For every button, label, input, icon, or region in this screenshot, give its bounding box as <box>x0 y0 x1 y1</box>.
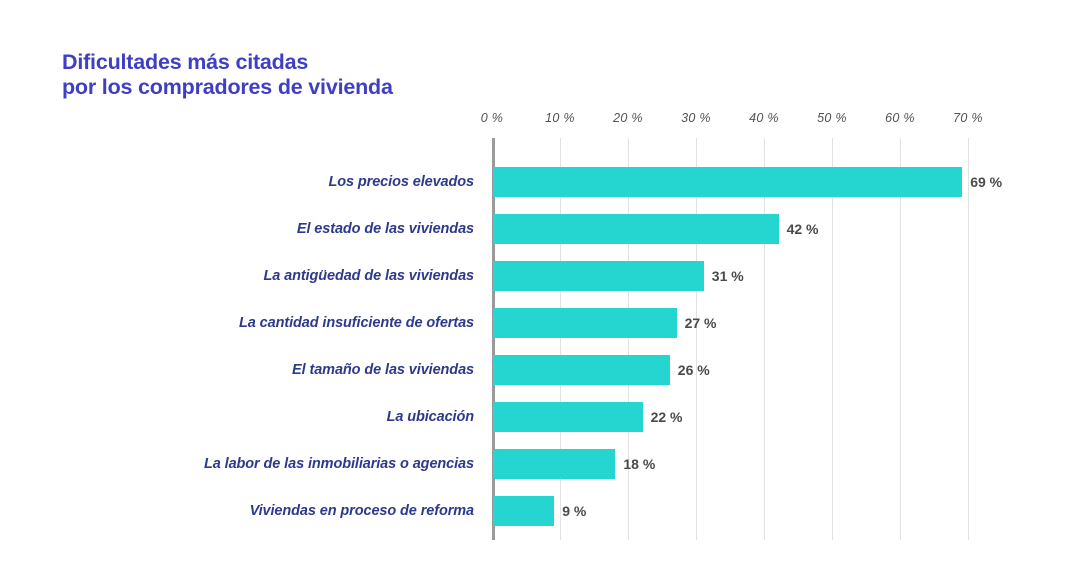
bar-row: La labor de las inmobiliarias o agencias… <box>0 449 1072 479</box>
x-tick-label-60: 60 % <box>885 111 915 125</box>
gridline-70 <box>968 138 969 540</box>
category-label: La antigüedad de las viviendas <box>0 261 474 291</box>
bar-row: El estado de las viviendas42 % <box>0 214 1072 244</box>
bar-value-label: 22 % <box>651 402 683 432</box>
gridline-40 <box>764 138 765 540</box>
bar <box>493 449 615 479</box>
x-tick-label-20: 20 % <box>613 111 643 125</box>
gridline-60 <box>900 138 901 540</box>
bar <box>493 355 670 385</box>
category-label: El tamaño de las viviendas <box>0 355 474 385</box>
bar <box>493 308 677 338</box>
x-tick-label-0: 0 % <box>481 111 503 125</box>
gridline-30 <box>696 138 697 540</box>
bar <box>493 496 554 526</box>
x-tick-label-10: 10 % <box>545 111 575 125</box>
bar-row: La ubicación22 % <box>0 402 1072 432</box>
x-tick-label-70: 70 % <box>953 111 983 125</box>
bar-value-label: 26 % <box>678 355 710 385</box>
chart-title: Dificultades más citadas por los comprad… <box>62 50 393 100</box>
gridline-50 <box>832 138 833 540</box>
bar <box>493 214 779 244</box>
bar-value-label: 69 % <box>970 167 1002 197</box>
category-label: La ubicación <box>0 402 474 432</box>
category-label: La cantidad insuficiente de ofertas <box>0 308 474 338</box>
x-tick-label-40: 40 % <box>749 111 779 125</box>
gridline-10 <box>560 138 561 540</box>
chart-page: Dificultades más citadas por los comprad… <box>0 0 1072 564</box>
y-axis-line <box>492 138 495 540</box>
gridline-20 <box>628 138 629 540</box>
bar-value-label: 9 % <box>562 496 586 526</box>
bar-value-label: 42 % <box>787 214 819 244</box>
category-label: Los precios elevados <box>0 167 474 197</box>
x-tick-label-50: 50 % <box>817 111 847 125</box>
bar <box>493 167 962 197</box>
category-label: La labor de las inmobiliarias o agencias <box>0 449 474 479</box>
bar-row: Los precios elevados69 % <box>0 167 1072 197</box>
bar-value-label: 31 % <box>712 261 744 291</box>
bar-value-label: 27 % <box>685 308 717 338</box>
bar <box>493 402 643 432</box>
category-label: Viviendas en proceso de reforma <box>0 496 474 526</box>
bar-row: El tamaño de las viviendas26 % <box>0 355 1072 385</box>
category-label: El estado de las viviendas <box>0 214 474 244</box>
bar-row: La antigüedad de las viviendas31 % <box>0 261 1072 291</box>
bar-row: Viviendas en proceso de reforma9 % <box>0 496 1072 526</box>
x-tick-label-30: 30 % <box>681 111 711 125</box>
bar-row: La cantidad insuficiente de ofertas27 % <box>0 308 1072 338</box>
bar-value-label: 18 % <box>623 449 655 479</box>
bar <box>493 261 704 291</box>
